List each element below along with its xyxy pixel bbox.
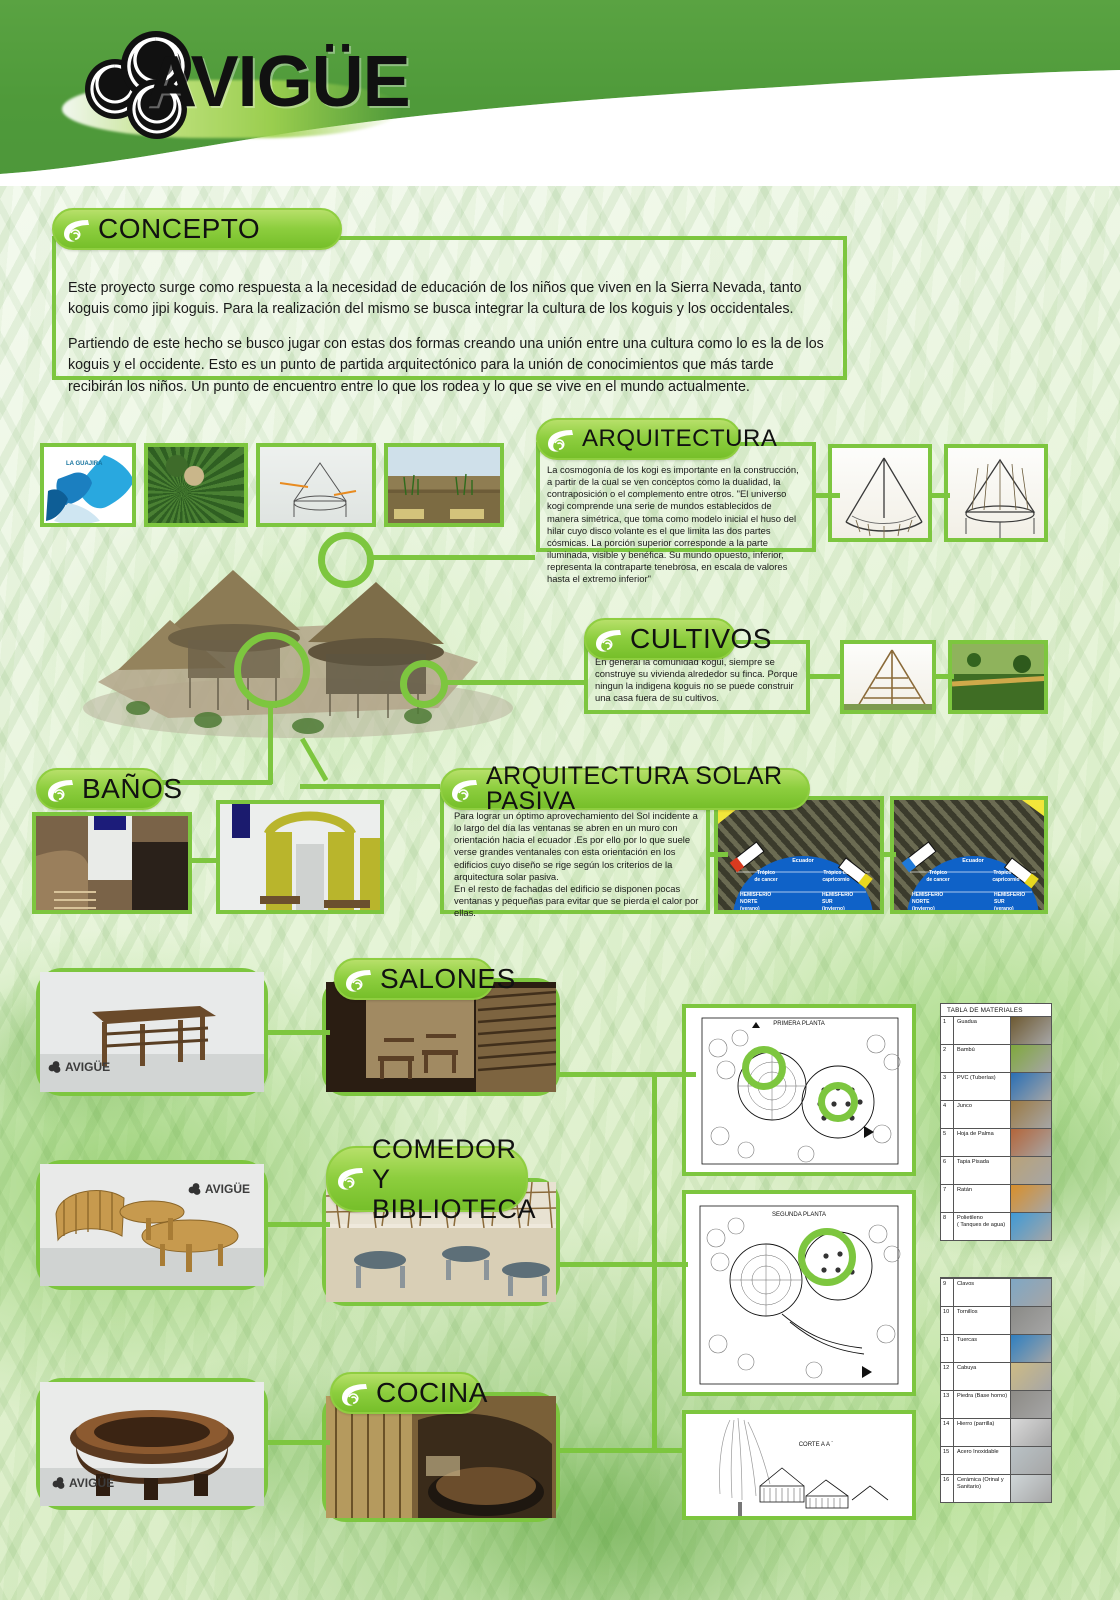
bathroom-render-drawing [36,816,192,914]
material-index: 8 [941,1213,954,1240]
materials-table-row: 14Hierro (parrilla) [941,1418,1051,1446]
connector-plan-spine [652,1072,657,1452]
callout-ring-cultivos [400,660,448,708]
material-name: Hierro (parrilla) [954,1419,1011,1446]
spiral-icon [188,1183,202,1195]
bamboo-partition-drawing [220,804,384,914]
material-swatch [1011,1419,1051,1446]
material-name: Junco [954,1101,1011,1128]
svg-text:Trópico: Trópico [757,870,775,876]
main-render-drawing [58,512,528,742]
section-title-label: SALONES [380,965,516,994]
material-swatch [1011,1447,1051,1474]
connector-solar-horz [300,784,440,789]
materials-table-row: 13Piedra (Base horno) [941,1390,1051,1418]
section-title-label: COMEDOR Y BIBLIOTECA [372,1134,536,1225]
connector-cult-img2 [932,674,954,679]
material-swatch [1011,1363,1051,1390]
leaf-curl-icon [546,426,576,456]
watermark-label: AVIGÜE [69,1476,114,1490]
comedor-render-frame: AVIGÜE [36,1160,268,1290]
materials-table-row: 3PVC (Tuberías) [941,1072,1051,1100]
farm-photo-drawing [952,644,1048,714]
leaf-curl-icon [62,216,92,246]
render-watermark: AVIGÜE [52,1476,114,1490]
section-title-label: CULTIVOS [630,625,772,654]
first-floor-plan-drawing: PRIMERA PLANTA [686,1008,912,1172]
callout-ring-arquitectura [318,532,374,588]
material-name: Bambú [954,1045,1011,1072]
materials-table-row: 10Tornillos [941,1306,1051,1334]
svg-text:Trópico de: Trópico de [993,870,1019,876]
svg-text:(invierno): (invierno) [822,906,845,912]
svg-text:HEMISFERIO: HEMISFERIO [822,892,853,898]
plan-callout-ring-1 [742,1046,786,1090]
material-swatch [1011,1391,1051,1418]
material-swatch [1011,1185,1051,1212]
concepto-paragraph-1: Este proyecto surge como respuesta a la … [68,278,829,321]
connector-arquitectura [370,555,535,560]
leaf-curl-icon [344,966,374,996]
materials-table-row: 9Clavos [941,1278,1051,1306]
spiral-icon [52,1477,66,1489]
solar-text: Para lograr un óptimo aprovechamiento de… [454,810,699,919]
second-floor-plan-drawing: SEGUNDA PLANTA [686,1194,912,1392]
material-index: 5 [941,1129,954,1156]
connector-banos-img [188,858,220,863]
cultivos-text: En general la comunidad kogui, siempre s… [595,656,799,705]
leaf-curl-icon [340,1380,370,1410]
cultivos-image-2 [948,640,1048,714]
bamboo-structure-drawing [844,644,936,714]
material-index: 15 [941,1447,954,1474]
connector-cultivos [444,680,584,685]
materials-table-row: 16Cerámica (Orinal y Sanitario) [941,1474,1051,1502]
section-title-label: ARQUITECTURA [582,427,777,451]
material-swatch [1011,1045,1051,1072]
callout-ring-main [234,632,310,708]
banos-image-2 [216,800,384,914]
brand-name: AVIGÜE [145,46,410,118]
material-swatch [1011,1307,1051,1334]
materials-table-row: 4Junco [941,1100,1051,1128]
main-building-render [58,512,528,742]
section-title-label: COCINA [376,1379,488,1408]
materials-table-title: TABLA DE MATERIALES [941,1004,1051,1016]
materials-table-top: TABLA DE MATERIALES 1Guadua2Bambú3PVC (T… [940,1003,1052,1241]
leaf-curl-icon [450,776,480,806]
cocina-render-frame: AVIGÜE [36,1378,268,1510]
svg-text:capricornio: capricornio [822,877,849,883]
svg-text:capricornio: capricornio [992,877,1019,883]
concepto-text-panel: Este proyecto surge como respuesta a la … [52,236,847,380]
connector-plan-2 [556,1262,688,1267]
svg-text:NORTE: NORTE [912,899,930,905]
material-index: 6 [941,1157,954,1184]
material-name: Hoja de Palma [954,1129,1011,1156]
section-title-comedor: COMEDOR Y BIBLIOTECA [326,1146,528,1212]
connector-plan-1 [556,1072,696,1077]
svg-text:SUR: SUR [822,899,833,905]
material-name: Clavos [954,1279,1011,1306]
section-title-label: BAÑOS [82,775,183,804]
materials-table-row: 1Guadua [941,1016,1051,1044]
material-name: Tornillos [954,1307,1011,1334]
poster-canvas: AVIGÜE CONCEPTO Este proyecto surge como… [0,0,1120,1600]
svg-text:Ecuador: Ecuador [792,858,814,864]
material-name: Guadua [954,1017,1011,1044]
plan-callout-ring-3 [798,1228,856,1286]
svg-text:HEMISFERIO: HEMISFERIO [994,892,1025,898]
material-name: Tuercas [954,1335,1011,1362]
material-name: Ratán [954,1185,1011,1212]
material-name: Cerámica (Orinal y Sanitario) [954,1475,1011,1502]
material-swatch [1011,1475,1051,1502]
material-swatch [1011,1129,1051,1156]
connector-solar-img2 [880,852,896,857]
material-swatch [1011,1335,1051,1362]
section-title-salones: SALONES [334,958,494,1000]
section-title-cocina: COCINA [330,1372,482,1414]
svg-text:Ecuador: Ecuador [962,858,984,864]
connector-solar-diag [300,738,328,782]
materials-table-bottom-rows: 9Clavos10Tornillos11Tuercas12Cabuya13Pie… [941,1278,1051,1502]
material-name: Cabuya [954,1363,1011,1390]
material-name: Polietileno ( Tanques de agua) [954,1213,1011,1240]
connector-arq-img2 [928,493,950,498]
material-name: Piedra (Base horno) [954,1391,1011,1418]
connector-cocina [264,1440,330,1445]
section-title-banos: BAÑOS [36,768,164,810]
material-name: PVC (Tuberías) [954,1073,1011,1100]
connector-section [556,1448,686,1453]
materials-table-row: 2Bambú [941,1044,1051,1072]
hut-sketch-drawing [948,448,1048,542]
materials-table-bottom: 9Clavos10Tornillos11Tuercas12Cabuya13Pie… [940,1277,1052,1503]
materials-table-row: 11Tuercas [941,1334,1051,1362]
brand-logo: AVIGÜE [40,24,420,144]
plan-segunda-planta: SEGUNDA PLANTA [682,1190,916,1396]
material-swatch [1011,1101,1051,1128]
materials-table-row: 6Tapia Pisada [941,1156,1051,1184]
materials-table-top-rows: 1Guadua2Bambú3PVC (Tuberías)4Junco5Hoja … [941,1016,1051,1240]
svg-text:CORTE A A ´: CORTE A A ´ [799,1442,834,1448]
svg-text:HEMISFERIO: HEMISFERIO [740,892,771,898]
render-watermark: AVIGÜE [48,1060,110,1074]
leaf-curl-icon [336,1164,366,1194]
material-index: 13 [941,1391,954,1418]
earth-seasons-right-drawing: Ecuador Trópico de cancer Trópico de cap… [894,800,1048,914]
materials-table-row: 5Hoja de Palma [941,1128,1051,1156]
svg-text:(verano): (verano) [740,906,760,912]
poster-header: AVIGÜE [0,0,1120,186]
material-swatch [1011,1073,1051,1100]
material-index: 14 [941,1419,954,1446]
material-swatch [1011,1157,1051,1184]
connector-solar-img1 [706,852,728,857]
svg-text:Trópico: Trópico [929,870,947,876]
plan-corte: CORTE A A ´ [682,1410,916,1520]
watermark-label: AVIGÜE [65,1060,110,1074]
connector-banos-vert [268,704,273,784]
connector-arq-img1 [816,493,840,498]
plan-callout-ring-2 [818,1082,858,1122]
material-index: 3 [941,1073,954,1100]
material-index: 7 [941,1185,954,1212]
section-title-arquitectura: ARQUITECTURA [536,418,741,460]
material-index: 16 [941,1475,954,1502]
concepto-paragraph-2: Partiendo de este hecho se busco jugar c… [68,334,829,398]
svg-text:SEGUNDA PLANTA: SEGUNDA PLANTA [772,1212,826,1218]
section-title-cultivos: CULTIVOS [584,618,736,660]
kitchen-render-drawing [326,1396,556,1518]
material-name: Acero Inoxidable [954,1447,1011,1474]
arquitectura-text: La cosmogonía de los kogi es importante … [547,464,805,585]
material-swatch [1011,1017,1051,1044]
arquitectura-sketch-1 [828,444,932,542]
connector-comedor [264,1222,330,1227]
leaf-curl-icon [594,626,624,656]
plan-primera-planta: PRIMERA PLANTA [682,1004,916,1176]
leaf-curl-icon [46,776,76,806]
material-name: Tapia Pisada [954,1157,1011,1184]
map-label: LA GUAJIRA [66,461,102,467]
svg-text:de cancer: de cancer [754,877,777,883]
svg-text:(invierno): (invierno) [912,906,935,912]
svg-text:Trópico de: Trópico de [823,870,849,876]
material-index: 10 [941,1307,954,1334]
materials-table-row: 12Cabuya [941,1362,1051,1390]
connector-salones [264,1030,330,1035]
svg-text:de cancer: de cancer [926,877,949,883]
spiral-icon [48,1061,62,1073]
banos-image-1 [32,812,192,914]
cultivos-image-1 [840,640,936,714]
material-index: 9 [941,1279,954,1306]
connector-cult-img1 [810,674,842,679]
section-title-label: CONCEPTO [98,215,260,244]
material-swatch [1011,1213,1051,1240]
solar-diagram-right: Ecuador Trópico de cancer Trópico de cap… [890,796,1048,914]
material-index: 2 [941,1045,954,1072]
svg-text:HEMISFERIO: HEMISFERIO [912,892,943,898]
material-swatch [1011,1279,1051,1306]
materials-table-row: 7Ratán [941,1184,1051,1212]
section-title-solar: ARQUITECTURA SOLAR PASIVA [440,768,810,810]
material-index: 1 [941,1017,954,1044]
material-index: 4 [941,1101,954,1128]
section-title-label: ARQUITECTURA SOLAR PASIVA [486,764,784,815]
svg-text:SUR: SUR [994,899,1005,905]
svg-text:(verano): (verano) [994,906,1014,912]
materials-table-row: 15Acero Inoxidable [941,1446,1051,1474]
render-watermark: AVIGÜE [188,1182,250,1196]
desk-render-drawing [40,972,264,1092]
loom-sketch-drawing [832,448,932,542]
section-title-concepto: CONCEPTO [52,208,342,250]
svg-text:NORTE: NORTE [740,899,758,905]
materials-table-row: 8Polietileno ( Tanques de agua) [941,1212,1051,1240]
material-index: 12 [941,1363,954,1390]
material-index: 11 [941,1335,954,1362]
section-drawing: CORTE A A ´ [686,1414,912,1516]
watermark-label: AVIGÜE [205,1182,250,1196]
earth-seasons-left-drawing: Ecuador Trópico de cancer Trópico de cap… [718,800,884,914]
svg-text:PRIMERA PLANTA: PRIMERA PLANTA [773,1021,825,1027]
salones-render-frame: AVIGÜE [36,968,268,1096]
arquitectura-sketch-2 [944,444,1048,542]
